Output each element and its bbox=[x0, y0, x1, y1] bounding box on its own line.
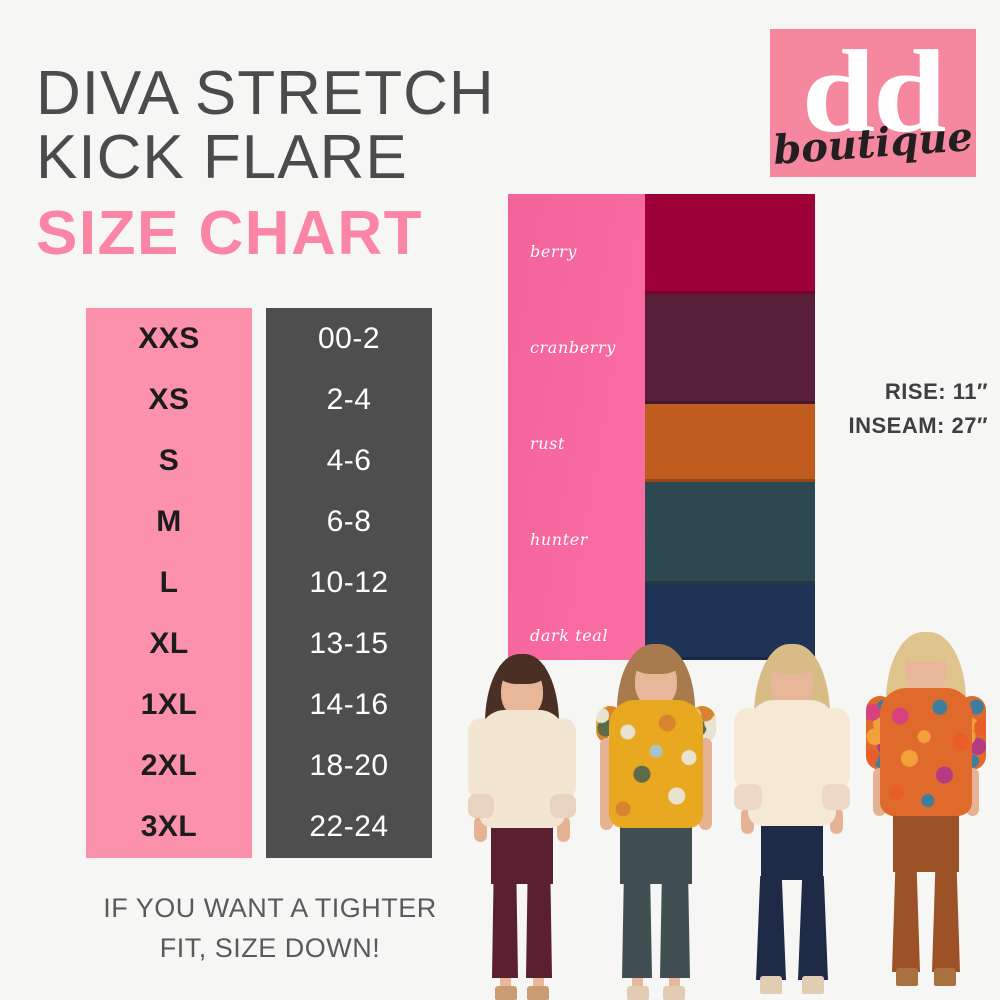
numeric-cell: 18-20 bbox=[309, 749, 388, 783]
leg-left bbox=[622, 880, 652, 978]
model-3-dark-teal bbox=[730, 640, 854, 1000]
fabric-photo-block: berrycranberryrusthunterdark teal bbox=[508, 194, 815, 660]
shoe-left bbox=[760, 976, 782, 994]
model-2-top bbox=[609, 700, 703, 828]
shoe-right bbox=[527, 986, 549, 1000]
fabric-stack bbox=[645, 194, 815, 660]
logo-wordmark: boutique bbox=[770, 116, 976, 172]
inseam-spec: INSEAM: 27″ bbox=[848, 409, 988, 443]
model-4-rust bbox=[864, 632, 988, 1000]
leg-left bbox=[492, 880, 518, 978]
leg-right bbox=[526, 880, 552, 978]
size-cell: XXS bbox=[138, 322, 200, 356]
model-3-pants bbox=[761, 818, 823, 880]
model-1-pants bbox=[491, 820, 553, 884]
color-name-label: cranberry bbox=[530, 338, 616, 357]
numeric-cell: 2-4 bbox=[327, 383, 372, 417]
fabric-swatch bbox=[645, 482, 815, 584]
cuff-right bbox=[822, 784, 850, 810]
leg-right bbox=[660, 880, 690, 978]
color-name-label: hunter bbox=[530, 530, 588, 549]
model-3-top bbox=[748, 700, 836, 826]
cuff-left bbox=[734, 784, 762, 810]
page-subtitle: SIZE CHART bbox=[36, 202, 495, 266]
color-name-overlay: berrycranberryrusthunterdark teal bbox=[508, 194, 645, 660]
shoe-left bbox=[896, 968, 918, 986]
shoe-left bbox=[627, 986, 649, 1000]
numeric-cell: 13-15 bbox=[309, 627, 388, 661]
cuff-left bbox=[468, 794, 494, 818]
color-name-label: rust bbox=[530, 434, 565, 453]
size-cell: M bbox=[156, 505, 182, 539]
shoe-left bbox=[495, 986, 517, 1000]
title-line-2: KICK FLARE bbox=[36, 126, 495, 190]
shoe-right bbox=[663, 986, 685, 1000]
hair-top bbox=[901, 636, 951, 662]
numeric-cell: 4-6 bbox=[327, 444, 372, 478]
size-chart-canvas: DIVA STRETCH KICK FLARE SIZE CHART dd bo… bbox=[0, 0, 1000, 1000]
numeric-cell: 22-24 bbox=[309, 810, 388, 844]
color-name-label: berry bbox=[530, 242, 577, 261]
page-title: DIVA STRETCH KICK FLARE SIZE CHART bbox=[36, 62, 495, 266]
size-cell: XL bbox=[149, 627, 188, 661]
leg-left bbox=[756, 876, 786, 980]
size-numeric-column: 00-22-44-66-810-1213-1514-1618-2022-24 bbox=[266, 308, 432, 858]
fit-note-line-1: IF YOU WANT A TIGHTER bbox=[60, 888, 480, 928]
cuff-right bbox=[550, 794, 576, 818]
model-photo-group bbox=[452, 630, 1000, 1000]
leg-right bbox=[932, 868, 960, 972]
numeric-cell: 10-12 bbox=[309, 566, 388, 600]
size-cell: 3XL bbox=[141, 810, 198, 844]
size-cell: L bbox=[160, 566, 179, 600]
model-1-cranberry bbox=[462, 648, 582, 1000]
brand-logo: dd boutique bbox=[770, 29, 976, 177]
shoe-right bbox=[934, 968, 956, 986]
numeric-cell: 6-8 bbox=[327, 505, 372, 539]
leg-right bbox=[798, 876, 828, 980]
size-label-column: XXSXSSMLXL1XL2XL3XL bbox=[86, 308, 252, 858]
size-cell: 1XL bbox=[141, 688, 198, 722]
model-4-top bbox=[880, 688, 972, 816]
model-2-pants bbox=[620, 820, 692, 884]
fabric-swatch bbox=[645, 194, 815, 294]
size-cell: 2XL bbox=[141, 749, 198, 783]
fit-note-line-2: FIT, SIZE DOWN! bbox=[60, 928, 480, 968]
measurement-specs: RISE: 11″ INSEAM: 27″ bbox=[848, 375, 988, 443]
fabric-swatch bbox=[645, 294, 815, 404]
model-2-hunter bbox=[592, 642, 720, 1000]
fit-note: IF YOU WANT A TIGHTER FIT, SIZE DOWN! bbox=[60, 888, 480, 968]
size-cell: XS bbox=[148, 383, 189, 417]
size-cell: S bbox=[159, 444, 180, 478]
leg-left bbox=[892, 868, 920, 972]
hair-top bbox=[632, 648, 680, 674]
hair-top bbox=[498, 658, 546, 684]
numeric-cell: 14-16 bbox=[309, 688, 388, 722]
model-4-pants bbox=[893, 810, 959, 872]
shoe-right bbox=[802, 976, 824, 994]
numeric-cell: 00-2 bbox=[318, 322, 380, 356]
hair-top bbox=[768, 648, 816, 674]
title-line-1: DIVA STRETCH bbox=[36, 62, 495, 126]
rise-spec: RISE: 11″ bbox=[848, 375, 988, 409]
fabric-swatch bbox=[645, 404, 815, 482]
